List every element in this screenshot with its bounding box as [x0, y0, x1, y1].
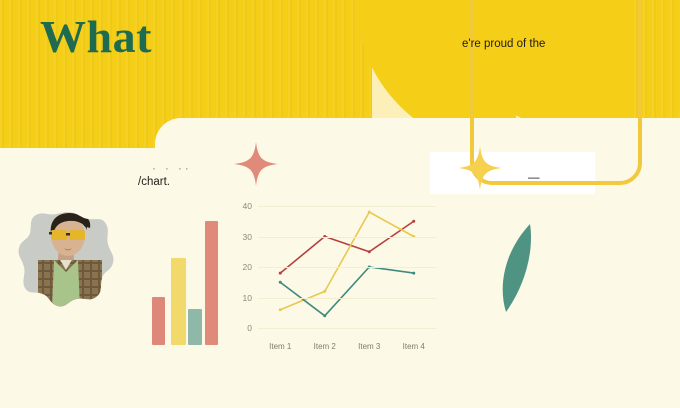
bar-2: [171, 258, 186, 345]
line-chart: 010203040Item 1Item 2Item 3Item 4: [232, 200, 442, 360]
gridline: [258, 298, 436, 299]
y-axis-tick-label: 10: [243, 293, 252, 303]
hero-copy-right: e're proud of the: [462, 38, 545, 50]
avatar: [18, 210, 114, 310]
hero-copy-left-ghost: · · ··: [152, 163, 192, 175]
slide-canvas: What e're proud of the · · ·· /chart. —: [0, 0, 680, 408]
y-axis-tick-label: 30: [243, 232, 252, 242]
bar-chart: [150, 205, 222, 345]
line-data-point: [412, 220, 415, 223]
yellow-band-lower-left: [0, 120, 175, 148]
bar-1: [152, 297, 165, 345]
page-title: What: [40, 14, 152, 60]
y-axis-tick-label: 0: [247, 323, 252, 333]
line-data-point: [279, 308, 282, 311]
bar-3: [188, 309, 202, 345]
hero-copy-dash: —: [528, 172, 540, 184]
line-series: [280, 212, 414, 310]
bar-4: [205, 221, 218, 345]
x-axis-tick-label: Item 2: [314, 342, 336, 351]
x-axis-tick-label: Item 1: [269, 342, 291, 351]
gridline: [258, 267, 436, 268]
hero-copy-left: /chart.: [138, 176, 170, 188]
x-axis-tick-label: Item 3: [358, 342, 380, 351]
gridline: [258, 328, 436, 329]
y-axis-tick-label: 40: [243, 201, 252, 211]
gridline: [258, 237, 436, 238]
line-data-point: [412, 272, 415, 275]
x-axis-tick-label: Item 4: [403, 342, 425, 351]
y-axis-tick-label: 20: [243, 262, 252, 272]
line-data-point: [323, 290, 326, 293]
line-data-point: [279, 281, 282, 284]
gridline: [258, 206, 436, 207]
line-data-point: [368, 211, 371, 214]
leaf-shape-icon: [492, 222, 536, 314]
line-data-point: [279, 272, 282, 275]
sparkle-star-coral-icon: [234, 142, 278, 186]
line-chart-plot-area: 010203040Item 1Item 2Item 3Item 4: [258, 206, 436, 328]
line-data-point: [368, 250, 371, 253]
line-data-point: [323, 314, 326, 317]
line-series: [280, 221, 414, 273]
sparkle-star-yellow-icon: [458, 146, 502, 190]
line-series: [280, 267, 414, 316]
